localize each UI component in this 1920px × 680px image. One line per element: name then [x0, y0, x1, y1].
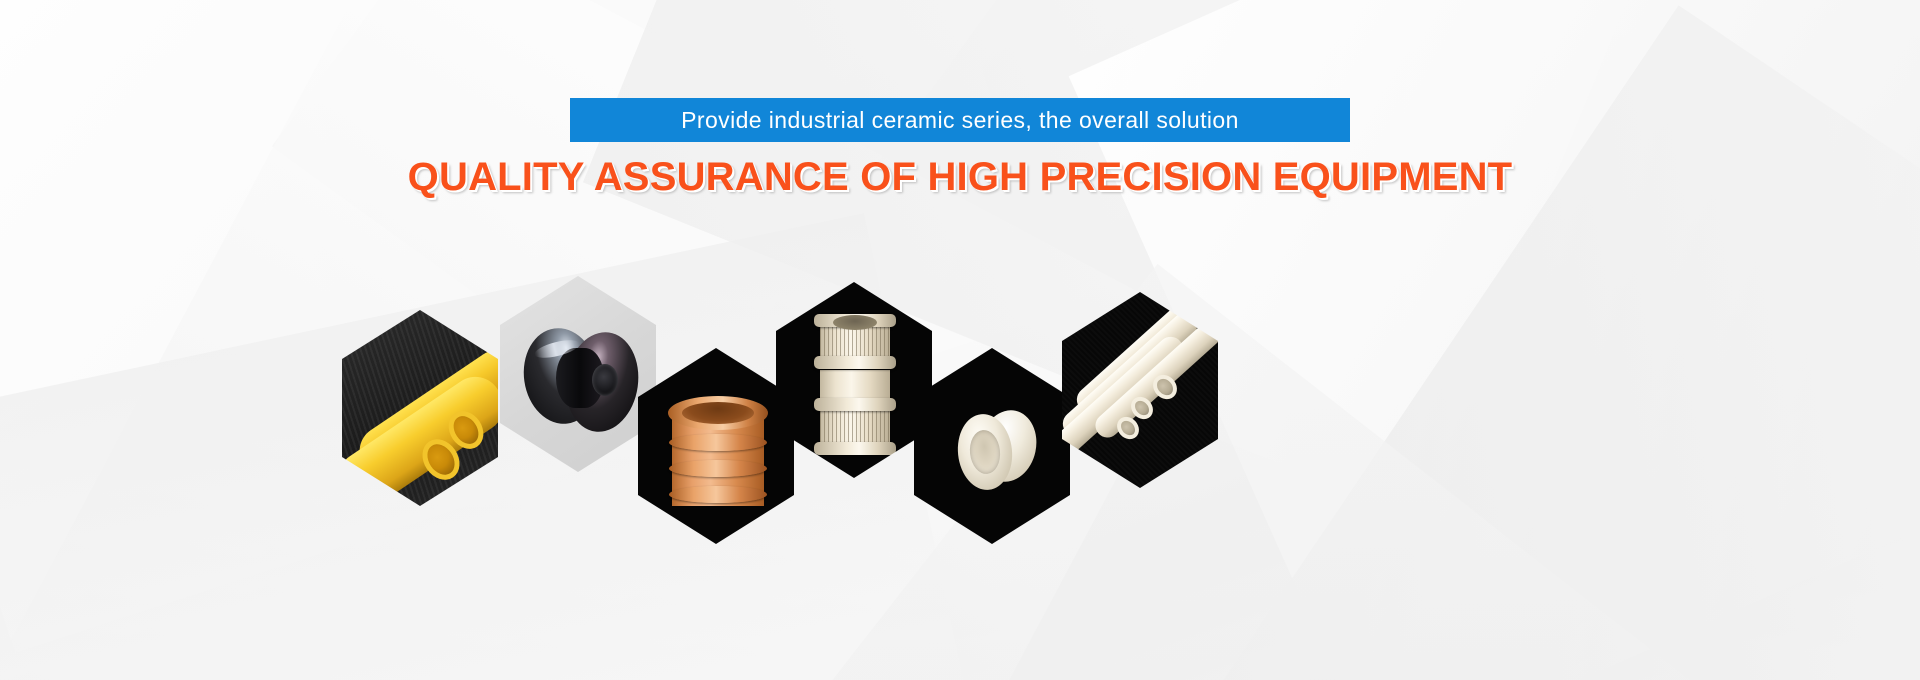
cylinder-flange: [814, 356, 896, 369]
product-hexagon-white-ceramic-eyelet[interactable]: [914, 348, 1070, 544]
product-hexagon-orange-ribbed-cylinder[interactable]: [638, 348, 794, 544]
cylinder-bore: [682, 402, 754, 424]
product-photo-yellow-ceramic-tubes: [342, 310, 498, 506]
hero-banner: Provide industrial ceramic series, the o…: [0, 0, 1920, 680]
product-photo-cream-ceramic-tubes: [1062, 292, 1218, 488]
product-photo-white-ceramic-eyelet: [914, 348, 1070, 544]
product-hexagon-ivory-grooved-cylinder[interactable]: [776, 282, 932, 478]
product-hexagon-black-glossy-pulley[interactable]: [500, 276, 656, 472]
product-hexagon-cream-ceramic-tubes[interactable]: [1062, 292, 1218, 488]
cylinder-flange: [814, 398, 896, 411]
product-photo-black-glossy-pulley: [500, 276, 656, 472]
cylinder-bore: [833, 315, 877, 330]
cylinder-knurling: [820, 408, 890, 446]
cylinder-rib: [669, 460, 767, 477]
cylinder-rib: [669, 486, 767, 503]
cylinder-flange: [814, 442, 896, 455]
product-hexagon-yellow-ceramic-tubes[interactable]: [342, 310, 498, 506]
pulley-bore: [592, 364, 618, 396]
product-hexagon-gallery: [0, 0, 1920, 680]
product-photo-ivory-grooved-cylinder: [776, 282, 932, 478]
product-photo-orange-ribbed-cylinder: [638, 348, 794, 544]
cylinder-rib: [669, 434, 767, 451]
